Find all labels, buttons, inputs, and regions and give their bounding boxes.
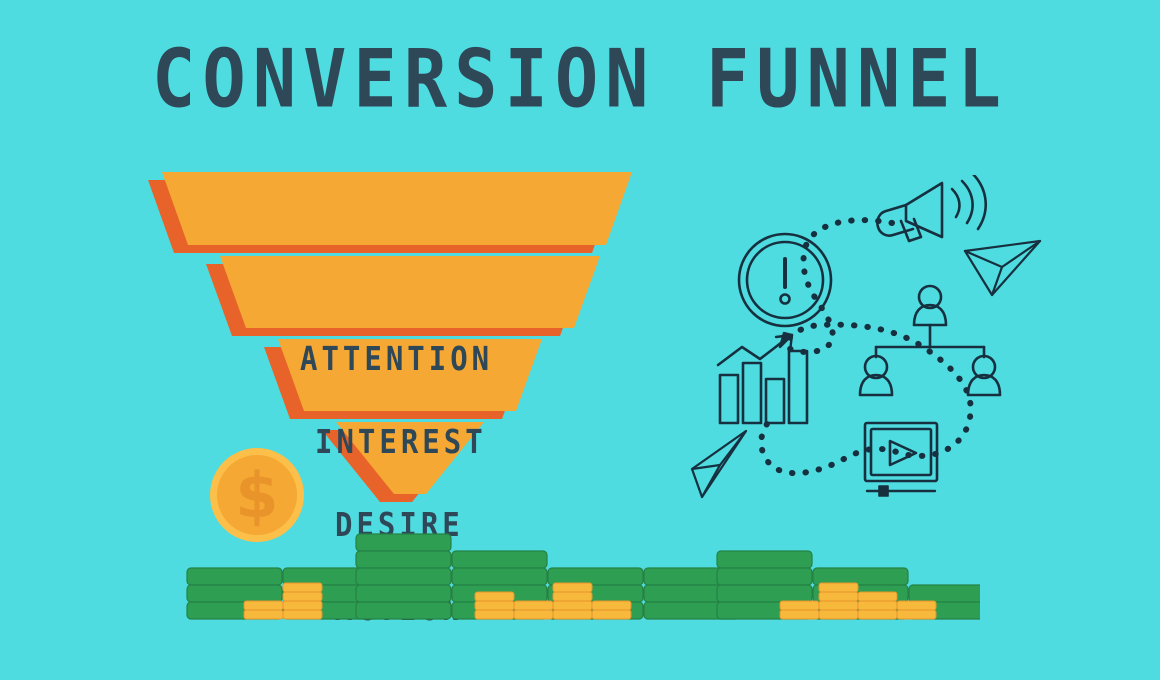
alert-circle-icon bbox=[739, 234, 831, 326]
paper-plane-icon-top bbox=[965, 241, 1040, 295]
infographic-canvas: CONVERSION FUNNEL bbox=[0, 0, 1160, 680]
megaphone-icon bbox=[877, 175, 985, 241]
money-stacks bbox=[180, 520, 980, 620]
funnel-label-interest: INTEREST bbox=[315, 423, 487, 461]
page-title: CONVERSION FUNNEL bbox=[0, 38, 1160, 119]
people-network-icon bbox=[860, 286, 1000, 395]
bar-chart-growth-icon bbox=[718, 333, 807, 423]
marketing-icon-cluster bbox=[680, 175, 1050, 505]
video-player-icon bbox=[865, 423, 937, 496]
funnel-label-attention: ATTENTION bbox=[300, 340, 493, 378]
paper-plane-icon-bottom bbox=[692, 431, 746, 497]
